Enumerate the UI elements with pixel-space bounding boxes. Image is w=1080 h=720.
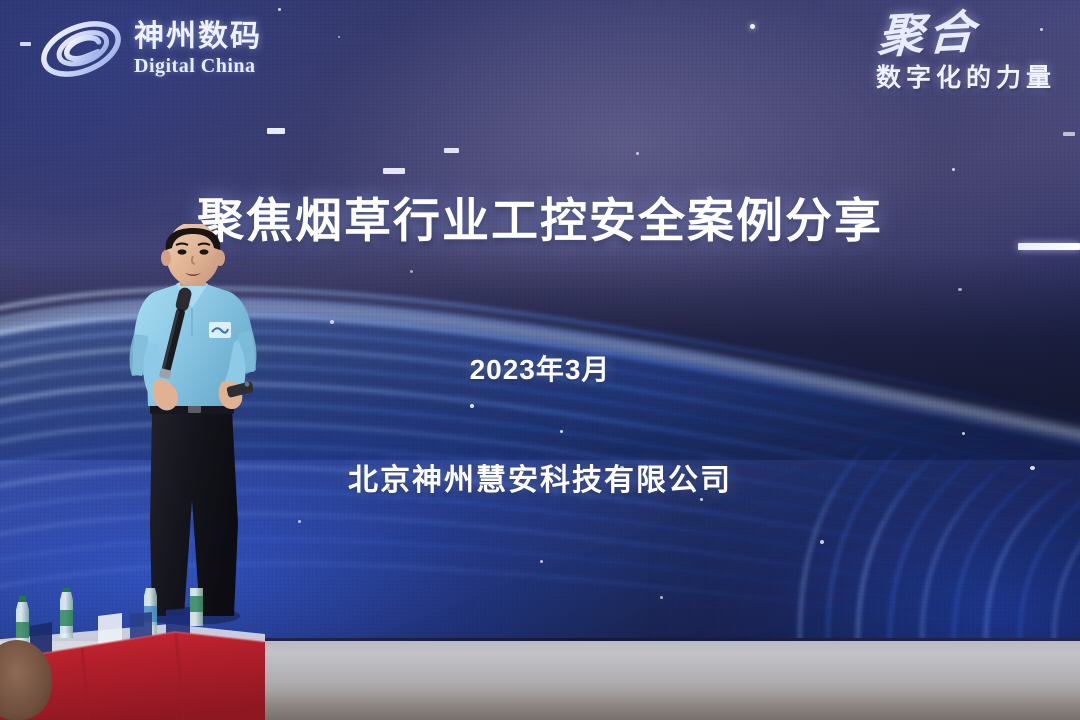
digital-china-logo: 神州数码 Digital China [38,18,262,80]
logo-name-cn: 神州数码 [134,22,262,52]
slide-accent-bar [1018,243,1080,250]
speaker-trousers [150,410,238,616]
screen-particle-dash [1063,132,1075,136]
screen-particle [952,168,955,171]
screen-particle-dash [383,168,405,174]
screen-particle [338,36,340,38]
logo-wordmark: 神州数码 Digital China [134,22,262,76]
screen-particle [278,8,281,11]
water-bottle [60,588,73,638]
speaker-figure [96,224,296,624]
stage-scene: 神州数码 Digital China 聚合 数字化的力量 聚焦烟草行业工控安全案… [0,0,1080,720]
slogan-headline: 聚合 [875,11,980,59]
screen-particle-dash [444,148,459,153]
logo-name-en: Digital China [134,56,262,76]
slogan-subline: 数字化的力量 [876,58,1056,94]
event-slogan: 聚合 数字化的力量 [876,14,1056,94]
speaker-shirt-emblem [209,322,231,338]
screen-particle-dash [20,42,31,46]
screen-particle [750,24,755,29]
digital-china-swirl-icon [38,18,124,80]
water-bottle [190,588,203,626]
screen-particle-dash [267,128,285,134]
screen-particle [636,152,639,155]
